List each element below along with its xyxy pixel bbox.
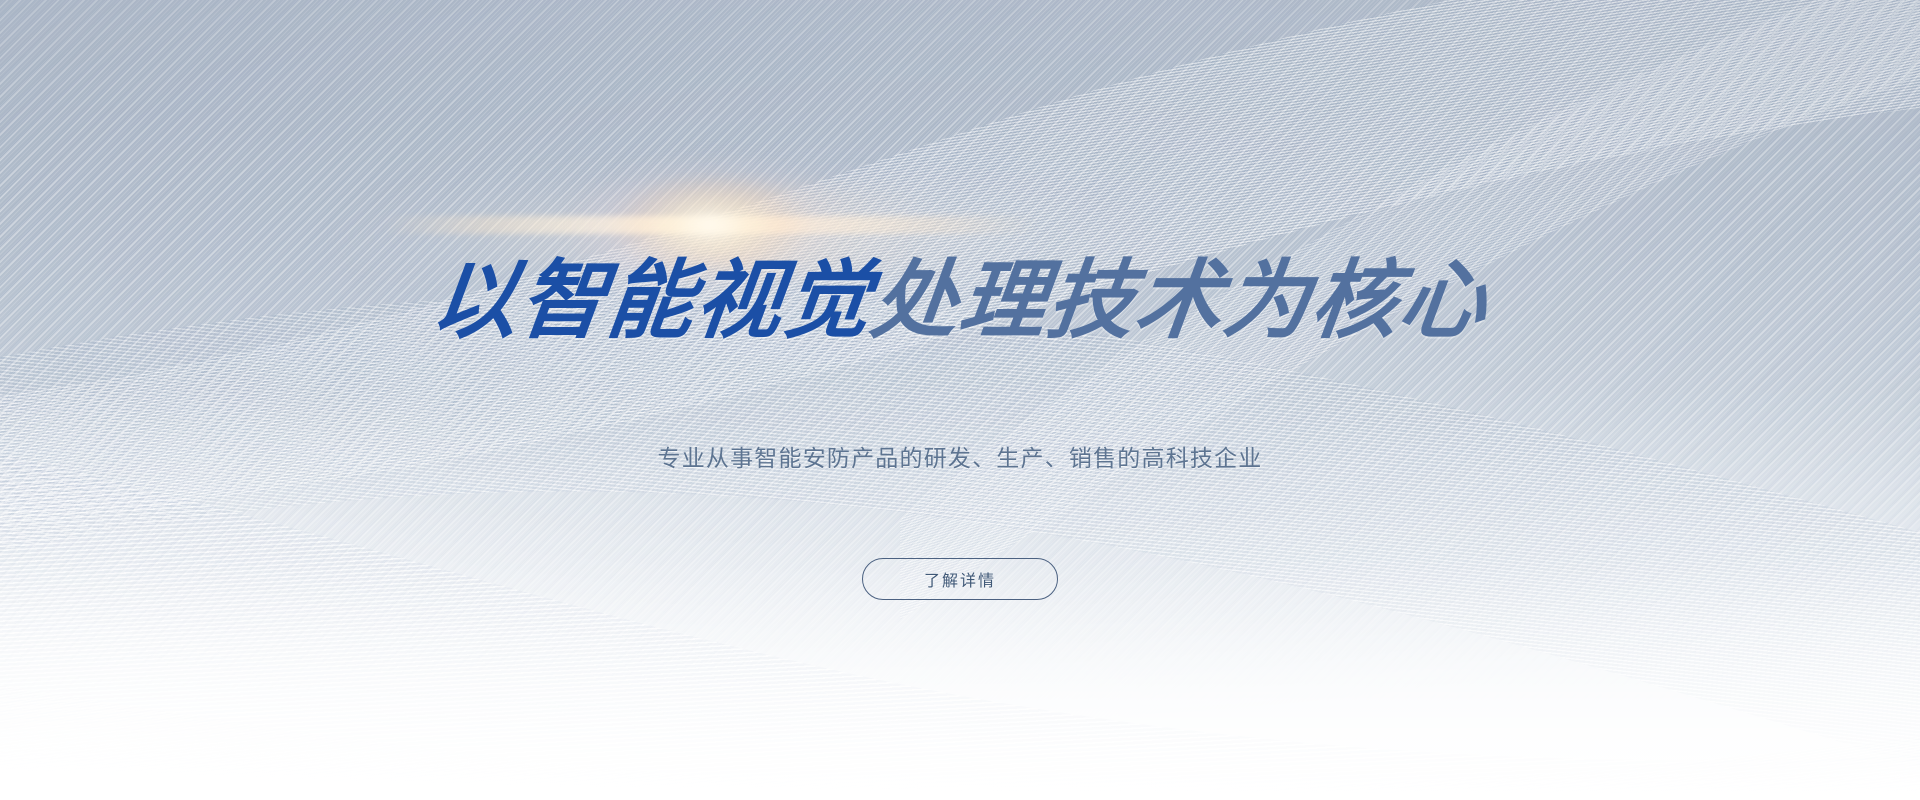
hero-content: 以智能视觉处理技术为核心 专业从事智能安防产品的研发、生产、销售的高科技企业 了… — [0, 0, 1920, 800]
headline-segment-muted: 处理技术为核心 — [866, 251, 1494, 351]
hero-subtitle: 专业从事智能安防产品的研发、生产、销售的高科技企业 — [658, 448, 1263, 471]
hero-banner: 以智能视觉处理技术为核心 专业从事智能安防产品的研发、生产、销售的高科技企业 了… — [0, 0, 1920, 800]
learn-more-button-label: 了解详情 — [924, 567, 996, 591]
headline-segment-primary: 以智能视觉 — [426, 251, 878, 351]
page-title: 以智能视觉处理技术为核心 — [427, 258, 1494, 344]
learn-more-button[interactable]: 了解详情 — [862, 558, 1058, 600]
